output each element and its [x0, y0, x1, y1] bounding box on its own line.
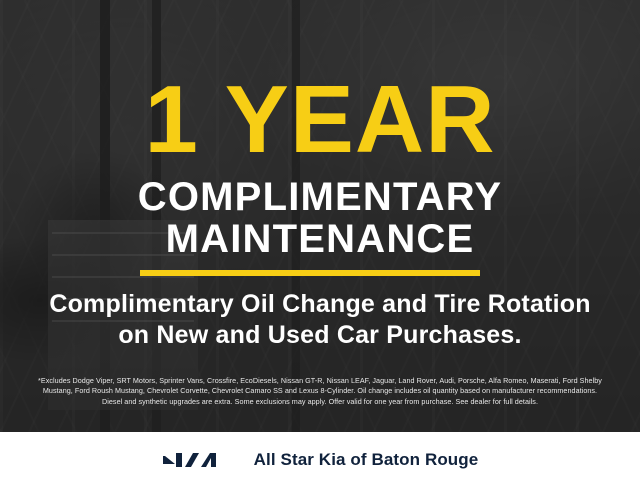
disclaimer-text: *Excludes Dodge Viper, SRT Motors, Sprin…: [16, 376, 624, 407]
advertisement-banner: 1 YEAR COMPLIMENTARY MAINTENANCE Complim…: [0, 0, 640, 488]
disclaimer-line-2: Mustang, Ford Roush Mustang, Chevrolet C…: [16, 386, 624, 396]
yellow-divider-bar: [140, 270, 480, 276]
offer-line-1: Complimentary Oil Change and Tire Rotati…: [49, 290, 590, 318]
disclaimer-line-1: *Excludes Dodge Viper, SRT Motors, Sprin…: [16, 376, 624, 386]
offer-line-2: on New and Used Car Purchases.: [0, 320, 640, 351]
subheadline-line-1: COMPLIMENTARY: [138, 175, 502, 219]
subheadline: COMPLIMENTARY MAINTENANCE: [0, 176, 640, 260]
hero-section: 1 YEAR COMPLIMENTARY MAINTENANCE Complim…: [0, 0, 640, 432]
dealer-name: All Star Kia of Baton Rouge: [254, 450, 479, 470]
kia-logo: [162, 450, 238, 470]
footer-bar: All Star Kia of Baton Rouge: [0, 432, 640, 488]
offer-description: Complimentary Oil Change and Tire Rotati…: [0, 289, 640, 351]
hero-content: 1 YEAR COMPLIMENTARY MAINTENANCE Complim…: [0, 0, 640, 432]
headline: 1 YEAR: [0, 72, 640, 168]
disclaimer-line-3: Diesel and synthetic upgrades are extra.…: [16, 397, 624, 407]
subheadline-line-2: MAINTENANCE: [0, 218, 640, 260]
